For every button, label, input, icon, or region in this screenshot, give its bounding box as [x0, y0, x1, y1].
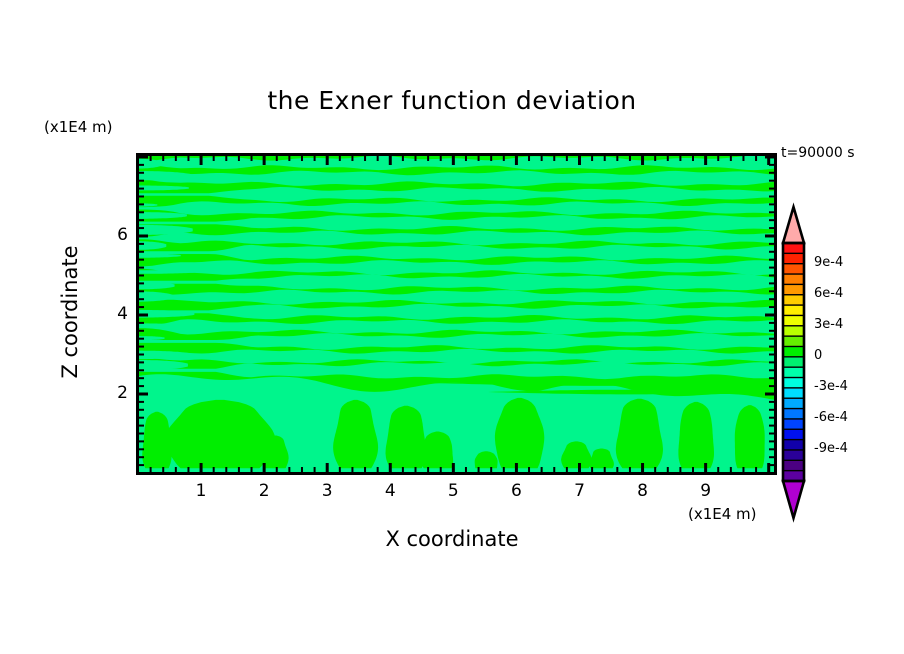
colorbar-top-arrow: [783, 207, 804, 243]
colorbar-tick-label: -3e-4: [814, 379, 848, 394]
convective-plume: [616, 399, 663, 473]
colorbar-band: [783, 264, 804, 275]
colorbar-tick-label: 0: [814, 348, 822, 363]
colorbar-tick-label: 9e-4: [814, 255, 843, 270]
x-tick-label-9: 9: [686, 481, 726, 501]
colorbar-band: [783, 274, 804, 285]
colorbar-band: [783, 315, 804, 326]
x-tick-label-7: 7: [559, 481, 599, 501]
colorbar-band: [783, 295, 804, 306]
colorbar-bottom-arrow: [783, 481, 804, 518]
y-tick-label-2: 2: [94, 383, 128, 403]
colorbar-band: [783, 398, 804, 409]
y-tick-label-6: 6: [94, 225, 128, 245]
colorbar-band: [783, 440, 804, 451]
colorbar-band: [783, 305, 804, 316]
colorbar-band: [783, 378, 804, 389]
figure-canvas: the Exner function deviation (x1E4 m) (x…: [0, 0, 904, 654]
x-tick-label-8: 8: [623, 481, 663, 501]
colorbar-tick-label: 3e-4: [814, 317, 843, 332]
colorbar-tick-label: -6e-4: [814, 410, 848, 425]
colorbar-band: [783, 409, 804, 420]
colorbar-band: [783, 419, 804, 430]
x-tick-label-2: 2: [244, 481, 284, 501]
convective-plume: [678, 402, 714, 473]
colorbar: [783, 207, 804, 518]
colorbar-band: [783, 253, 804, 264]
x-tick-label-6: 6: [496, 481, 536, 501]
colorbar-band: [783, 284, 804, 295]
convective-plume: [422, 432, 453, 474]
colorbar-band: [783, 326, 804, 337]
contour-field: [138, 155, 775, 473]
y-tick-label-4: 4: [94, 304, 128, 324]
wave-stripe: [138, 349, 775, 364]
x-tick-label-4: 4: [370, 481, 410, 501]
convective-plume: [386, 406, 427, 473]
colorbar-band: [783, 346, 804, 357]
x-tick-label-1: 1: [181, 481, 221, 501]
colorbar-band: [783, 336, 804, 347]
convective-plume: [735, 405, 765, 473]
contour-plot: [0, 0, 904, 654]
colorbar-band: [783, 357, 804, 368]
colorbar-band: [783, 367, 804, 378]
colorbar-band: [783, 429, 804, 440]
colorbar-band: [783, 450, 804, 461]
colorbar-band: [783, 460, 804, 471]
colorbar-tick-label: 6e-4: [814, 286, 843, 301]
colorbar-tick-label: -9e-4: [814, 441, 848, 456]
x-tick-label-5: 5: [433, 481, 473, 501]
colorbar-band: [783, 243, 804, 254]
x-tick-label-3: 3: [307, 481, 347, 501]
colorbar-band: [783, 388, 804, 399]
